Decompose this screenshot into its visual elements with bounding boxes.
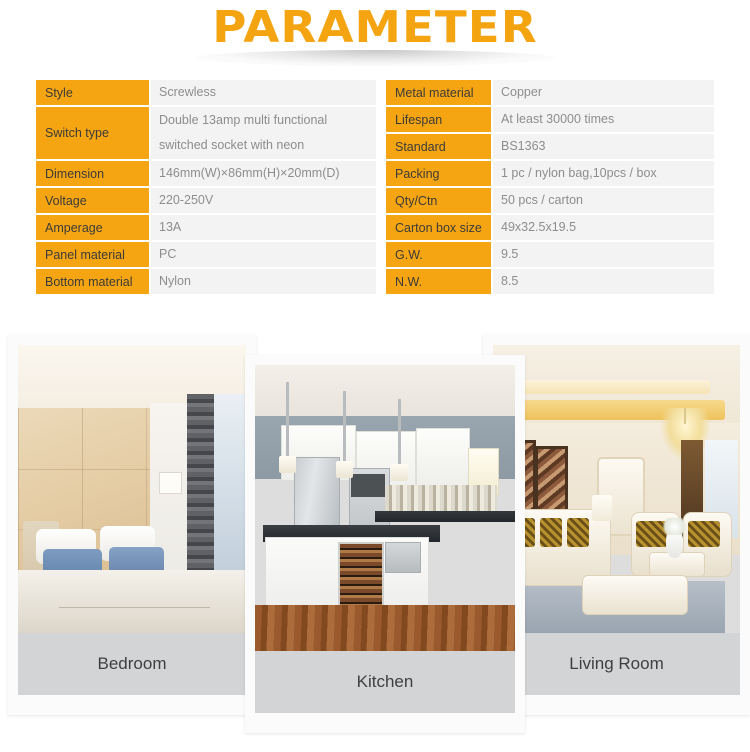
table-row: Metal material Copper	[386, 80, 714, 105]
room-card-bedroom[interactable]: Bedroom	[8, 335, 256, 715]
spec-key: Metal material	[386, 80, 491, 105]
table-row: Standard BS1363	[386, 134, 714, 159]
room-card-caption: Living Room	[493, 633, 740, 695]
table-row: Qty/Ctn 50 pcs / carton	[386, 188, 714, 213]
spec-value: 50 pcs / carton	[493, 188, 714, 213]
spec-table-right: Metal material Copper Lifespan At least …	[386, 80, 714, 294]
spec-value-line: 13A	[159, 215, 376, 240]
spec-value: 1 pc / nylon bag,10pcs / box	[493, 161, 714, 186]
spec-table-left: Style Screwless Switch type Double 13amp…	[36, 80, 376, 294]
spec-value-line: 146mm(W)×86mm(H)×20mm(D)	[159, 161, 376, 186]
spec-value-line: Nylon	[159, 269, 376, 294]
table-row: Lifespan At least 30000 times	[386, 107, 714, 132]
spec-key: Amperage	[36, 215, 149, 240]
kitchen-photo	[255, 365, 515, 651]
title-shadow-decoration	[195, 50, 555, 66]
spec-value: Screwless	[151, 80, 376, 105]
room-card-caption: Kitchen	[255, 651, 515, 713]
table-row: Style Screwless	[36, 80, 376, 105]
spec-value: At least 30000 times	[493, 107, 714, 132]
spec-key: Qty/Ctn	[386, 188, 491, 213]
spec-key: Lifespan	[386, 107, 491, 132]
spec-key: Style	[36, 80, 149, 105]
spec-key: N.W.	[386, 269, 491, 294]
spec-value-line: Screwless	[159, 80, 376, 105]
spec-value: Nylon	[151, 269, 376, 294]
table-row: N.W. 8.5	[386, 269, 714, 294]
room-card-caption: Bedroom	[18, 633, 246, 695]
spec-key: Carton box size	[386, 215, 491, 240]
page-title: PARAMETER	[0, 6, 750, 50]
table-row: Panel material PC	[36, 242, 376, 267]
spec-value: 146mm(W)×86mm(H)×20mm(D)	[151, 161, 376, 186]
spec-value-line: Double 13amp multi functional	[159, 108, 376, 133]
spec-value-line: 220-250V	[159, 188, 376, 213]
spec-key: Panel material	[36, 242, 149, 267]
table-row: Packing 1 pc / nylon bag,10pcs / box	[386, 161, 714, 186]
spec-value-line: PC	[159, 242, 376, 267]
living-room-scene	[493, 345, 740, 633]
table-row: Bottom material Nylon	[36, 269, 376, 294]
spec-value: 8.5	[493, 269, 714, 294]
spec-value: 49x32.5x19.5	[493, 215, 714, 240]
table-row: Switch type Double 13amp multi functiona…	[36, 107, 376, 159]
spec-value: Double 13amp multi functional switched s…	[151, 107, 376, 159]
spec-key: Voltage	[36, 188, 149, 213]
kitchen-scene	[255, 365, 515, 651]
table-row: G.W. 9.5	[386, 242, 714, 267]
spec-key: Standard	[386, 134, 491, 159]
spec-key: Bottom material	[36, 269, 149, 294]
specification-tables: Style Screwless Switch type Double 13amp…	[0, 80, 750, 290]
table-row: Voltage 220-250V	[36, 188, 376, 213]
spec-value: BS1363	[493, 134, 714, 159]
bedroom-scene	[18, 345, 246, 633]
room-gallery: Bedroom	[0, 300, 750, 752]
spec-value: 9.5	[493, 242, 714, 267]
table-row: Carton box size 49x32.5x19.5	[386, 215, 714, 240]
spec-key: Packing	[386, 161, 491, 186]
living-room-photo	[493, 345, 740, 633]
table-row: Amperage 13A	[36, 215, 376, 240]
spec-key: Dimension	[36, 161, 149, 186]
spec-value: PC	[151, 242, 376, 267]
spec-value: Copper	[493, 80, 714, 105]
spec-value-line: switched socket with neon	[159, 133, 376, 158]
bedroom-photo	[18, 345, 246, 633]
page-header: PARAMETER	[0, 0, 750, 72]
spec-value: 13A	[151, 215, 376, 240]
spec-key: G.W.	[386, 242, 491, 267]
spec-value: 220-250V	[151, 188, 376, 213]
table-row: Dimension 146mm(W)×86mm(H)×20mm(D)	[36, 161, 376, 186]
room-card-kitchen[interactable]: Kitchen	[245, 355, 525, 733]
spec-key: Switch type	[36, 107, 149, 159]
